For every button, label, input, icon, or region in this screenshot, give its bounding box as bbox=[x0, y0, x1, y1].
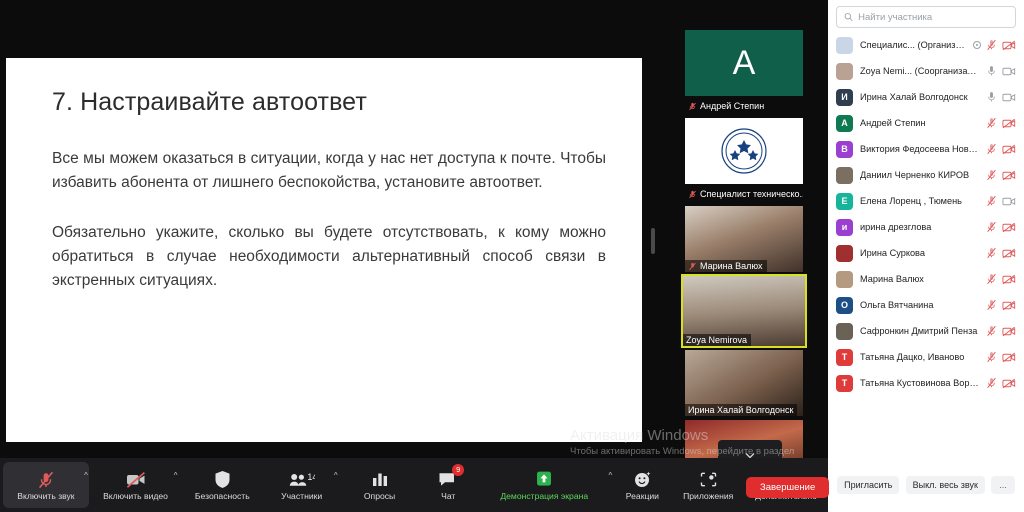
search-icon bbox=[844, 12, 853, 22]
thumb-letter-avatar: A bbox=[685, 30, 803, 96]
mic-muted-icon bbox=[688, 102, 697, 111]
search-box[interactable] bbox=[836, 6, 1016, 28]
participant-avatar: A bbox=[836, 115, 853, 132]
mic-muted-icon bbox=[37, 470, 55, 490]
participants-button[interactable]: 14 Участники ^ bbox=[265, 462, 339, 508]
video-thumbnail[interactable]: Ирина Халай Волгодонск bbox=[685, 350, 803, 416]
participant-status-icons bbox=[986, 299, 1016, 311]
participant-avatar bbox=[836, 167, 853, 184]
video-muted-icon[interactable] bbox=[1002, 248, 1016, 259]
video-muted-icon[interactable] bbox=[1002, 222, 1016, 233]
thumb-name-label: Андрей Степин bbox=[700, 101, 764, 111]
video-muted-icon[interactable] bbox=[1002, 170, 1016, 181]
participants-action-bar: Пригласить Выкл. весь звук ... bbox=[828, 458, 1024, 512]
video-muted-icon[interactable] bbox=[1002, 274, 1016, 285]
participant-avatar: Т bbox=[836, 349, 853, 366]
participant-row[interactable]: Специалис... (Организатор, я) bbox=[834, 32, 1018, 58]
participant-avatar bbox=[836, 37, 853, 54]
participants-icon: 14 bbox=[289, 470, 315, 490]
participants-search-wrap bbox=[828, 0, 1024, 32]
participant-avatar: И bbox=[836, 89, 853, 106]
organization-logo-icon bbox=[685, 118, 803, 184]
mic-muted-icon[interactable] bbox=[986, 273, 997, 285]
mic-muted-icon bbox=[688, 190, 697, 199]
video-muted-icon[interactable] bbox=[1002, 144, 1016, 155]
share-screen-icon bbox=[534, 470, 554, 490]
mic-muted-icon[interactable] bbox=[986, 143, 997, 155]
security-label: Безопасность bbox=[195, 492, 250, 501]
mic-muted-icon[interactable] bbox=[986, 39, 997, 51]
slide-title: 7. Настраивайте автоответ bbox=[52, 88, 606, 117]
host-indicator-icon bbox=[973, 41, 981, 49]
video-icon[interactable] bbox=[1002, 66, 1016, 77]
polls-icon bbox=[371, 470, 389, 490]
mic-icon[interactable] bbox=[986, 91, 997, 103]
video-muted-icon[interactable] bbox=[1002, 118, 1016, 129]
participant-status-icons bbox=[986, 65, 1016, 77]
mic-icon[interactable] bbox=[986, 65, 997, 77]
mic-muted-icon[interactable] bbox=[986, 377, 997, 389]
mic-muted-icon bbox=[688, 262, 697, 271]
thumb-name-label: Специалист техническо... bbox=[700, 189, 803, 199]
participant-row[interactable]: Марина Валюх bbox=[834, 266, 1018, 292]
chat-unread-badge: 9 bbox=[452, 464, 464, 476]
participant-avatar: Е bbox=[836, 193, 853, 210]
svg-text:14: 14 bbox=[307, 472, 315, 482]
invite-button[interactable]: Пригласить bbox=[837, 476, 899, 494]
slide-paragraph-2: Обязательно укажите, сколько вы будете о… bbox=[52, 221, 606, 293]
participant-row[interactable]: иирина дрезглова bbox=[834, 214, 1018, 240]
participant-status-icons bbox=[986, 117, 1016, 129]
meeting-stage: 7. Настраивайте автоответ Все мы можем о… bbox=[0, 0, 828, 512]
participant-row[interactable]: Сафронкин Дмитрий Пенза bbox=[834, 318, 1018, 344]
video-muted-icon[interactable] bbox=[1002, 352, 1016, 363]
unmute-audio-label: Включить звук bbox=[17, 492, 74, 501]
apps-button[interactable]: Приложения bbox=[678, 462, 738, 508]
mic-muted-icon[interactable] bbox=[986, 117, 997, 129]
participant-status-icons bbox=[986, 143, 1016, 155]
participant-row[interactable]: ТТатьяна Дацко, Иваново bbox=[834, 344, 1018, 370]
video-icon[interactable] bbox=[1002, 92, 1016, 103]
video-thumbnail-active-speaker[interactable]: Zoya Nemirova bbox=[683, 276, 805, 346]
reactions-button[interactable]: Реакции bbox=[612, 462, 672, 508]
video-muted-icon[interactable] bbox=[1002, 378, 1016, 389]
participant-row[interactable]: ТТатьяна Кустовинова Воронеж bbox=[834, 370, 1018, 396]
thumb-name-label: Марина Валюх bbox=[700, 261, 763, 271]
start-video-label: Включить видео bbox=[103, 492, 168, 501]
video-muted-icon bbox=[125, 470, 147, 490]
apps-icon bbox=[699, 470, 718, 490]
divider-grip-icon[interactable] bbox=[651, 228, 655, 254]
video-thumbnail[interactable] bbox=[685, 118, 803, 184]
mute-all-button[interactable]: Выкл. весь звук bbox=[906, 476, 985, 494]
share-screen-button[interactable]: Демонстрация экрана ^ bbox=[486, 462, 602, 508]
participant-status-icons bbox=[986, 91, 1016, 103]
search-input[interactable] bbox=[858, 12, 1008, 23]
participants-more-button[interactable]: ... bbox=[991, 476, 1015, 494]
reactions-icon bbox=[633, 470, 652, 490]
participant-avatar: В bbox=[836, 141, 853, 158]
participant-name: Ирина Суркова bbox=[860, 248, 979, 258]
participants-list[interactable]: Специалис... (Организатор, я) Zoya Nemi.… bbox=[828, 32, 1024, 396]
participant-name: Zoya Nemi... (Соорганизатор) bbox=[860, 66, 979, 76]
participant-status-icons bbox=[973, 39, 1016, 51]
share-screen-label: Демонстрация экрана bbox=[500, 492, 588, 501]
participant-status-icons bbox=[986, 351, 1016, 363]
participant-name: Даниил Черненко КИРОВ bbox=[860, 170, 979, 180]
chat-button[interactable]: 9 Чат bbox=[418, 462, 478, 508]
slide-paragraph-1: Все мы можем оказаться в ситуации, когда… bbox=[52, 147, 606, 195]
participant-name: Марина Валюх bbox=[860, 274, 979, 284]
panel-divider[interactable] bbox=[646, 0, 660, 512]
participant-row[interactable]: Даниил Черненко КИРОВ bbox=[834, 162, 1018, 188]
participant-row[interactable]: AАндрей Степин bbox=[834, 110, 1018, 136]
participant-row[interactable]: ООльга Вятчанина bbox=[834, 292, 1018, 318]
polls-label: Опросы bbox=[364, 492, 395, 501]
thumb-name-label: Ирина Халай Волгодонск bbox=[688, 405, 793, 415]
security-button[interactable]: Безопасность bbox=[192, 462, 252, 508]
participant-name: Андрей Степин bbox=[860, 118, 979, 128]
participant-row[interactable]: ИИрина Халай Волгодонск bbox=[834, 84, 1018, 110]
video-thumbnail[interactable]: Марина Валюх bbox=[685, 206, 803, 272]
participants-panel: Специалис... (Организатор, я) Zoya Nemi.… bbox=[828, 0, 1024, 512]
participant-status-icons bbox=[986, 195, 1016, 207]
mic-muted-icon[interactable] bbox=[986, 351, 997, 363]
participant-name: Елена Лоренц , Тюмень bbox=[860, 196, 979, 206]
mic-muted-icon[interactable] bbox=[986, 247, 997, 259]
reactions-label: Реакции bbox=[626, 492, 659, 501]
participant-name: Ольга Вятчанина bbox=[860, 300, 979, 310]
thumb-name-row: Андрей Степин bbox=[685, 100, 803, 112]
audio-options-chevron-icon[interactable]: ^ bbox=[84, 471, 88, 480]
mic-muted-icon[interactable] bbox=[986, 299, 997, 311]
unmute-audio-button[interactable]: Включить звук ^ bbox=[3, 462, 89, 508]
participant-avatar: и bbox=[836, 219, 853, 236]
thumb-name-row: Ирина Халай Волгодонск bbox=[685, 404, 797, 416]
participant-avatar: Т bbox=[836, 375, 853, 392]
video-thumbnail[interactable]: A bbox=[685, 30, 803, 96]
thumb-name-row: Специалист техническо... bbox=[685, 188, 803, 200]
participant-name: Татьяна Кустовинова Воронеж bbox=[860, 378, 979, 388]
mic-muted-icon[interactable] bbox=[986, 195, 997, 207]
participant-status-icons bbox=[986, 247, 1016, 259]
thumb-name-row: Марина Валюх bbox=[685, 260, 767, 272]
participant-avatar bbox=[836, 323, 853, 340]
participant-name: Виктория Федосеева Новосиби... bbox=[860, 144, 979, 154]
zoom-meeting-window: 7. Настраивайте автоответ Все мы можем о… bbox=[0, 0, 1024, 512]
participant-status-icons bbox=[986, 169, 1016, 181]
thumb-name-label: Zoya Nemirova bbox=[686, 335, 747, 345]
polls-button[interactable]: Опросы bbox=[350, 462, 410, 508]
participant-avatar: О bbox=[836, 297, 853, 314]
mic-muted-icon[interactable] bbox=[986, 325, 997, 337]
video-muted-icon[interactable] bbox=[1002, 326, 1016, 337]
video-icon[interactable] bbox=[1002, 196, 1016, 207]
mic-muted-icon[interactable] bbox=[986, 169, 997, 181]
participant-row[interactable]: Ирина Суркова bbox=[834, 240, 1018, 266]
participant-avatar bbox=[836, 271, 853, 288]
apps-label: Приложения bbox=[683, 492, 733, 501]
participant-row[interactable]: ЕЕлена Лоренц , Тюмень bbox=[834, 188, 1018, 214]
participant-name: Татьяна Дацко, Иваново bbox=[860, 352, 979, 362]
video-filmstrip: A Андрей Степин bbox=[660, 0, 828, 458]
participant-name: ирина дрезглова bbox=[860, 222, 979, 232]
shield-icon bbox=[214, 470, 231, 490]
participant-row[interactable]: Zoya Nemi... (Соорганизатор) bbox=[834, 58, 1018, 84]
participant-status-icons bbox=[986, 221, 1016, 233]
video-options-chevron-icon[interactable]: ^ bbox=[174, 471, 178, 480]
participant-status-icons bbox=[986, 377, 1016, 389]
participants-toolbar-label: Участники bbox=[281, 492, 322, 501]
thumb-name-row: Zoya Nemirova bbox=[683, 334, 751, 346]
participant-name: Специалис... (Организатор, я) bbox=[860, 40, 966, 50]
video-muted-icon[interactable] bbox=[1002, 300, 1016, 311]
shared-screen-slide[interactable]: 7. Настраивайте автоответ Все мы можем о… bbox=[6, 58, 642, 442]
participant-status-icons bbox=[986, 325, 1016, 337]
participant-name: Сафронкин Дмитрий Пенза bbox=[860, 326, 979, 336]
meeting-toolbar: Включить звук ^ Включить видео ^ bbox=[0, 458, 828, 512]
participant-avatar bbox=[836, 63, 853, 80]
participant-name: Ирина Халай Волгодонск bbox=[860, 92, 979, 102]
participants-options-chevron-icon[interactable]: ^ bbox=[334, 471, 338, 480]
chat-label: Чат bbox=[441, 492, 455, 501]
end-meeting-button[interactable]: Завершение bbox=[746, 477, 829, 498]
participant-avatar bbox=[836, 245, 853, 262]
participant-status-icons bbox=[986, 273, 1016, 285]
video-muted-icon[interactable] bbox=[1002, 40, 1016, 51]
start-video-button[interactable]: Включить видео ^ bbox=[93, 462, 179, 508]
participant-row[interactable]: ВВиктория Федосеева Новосиби... bbox=[834, 136, 1018, 162]
mic-muted-icon[interactable] bbox=[986, 221, 997, 233]
